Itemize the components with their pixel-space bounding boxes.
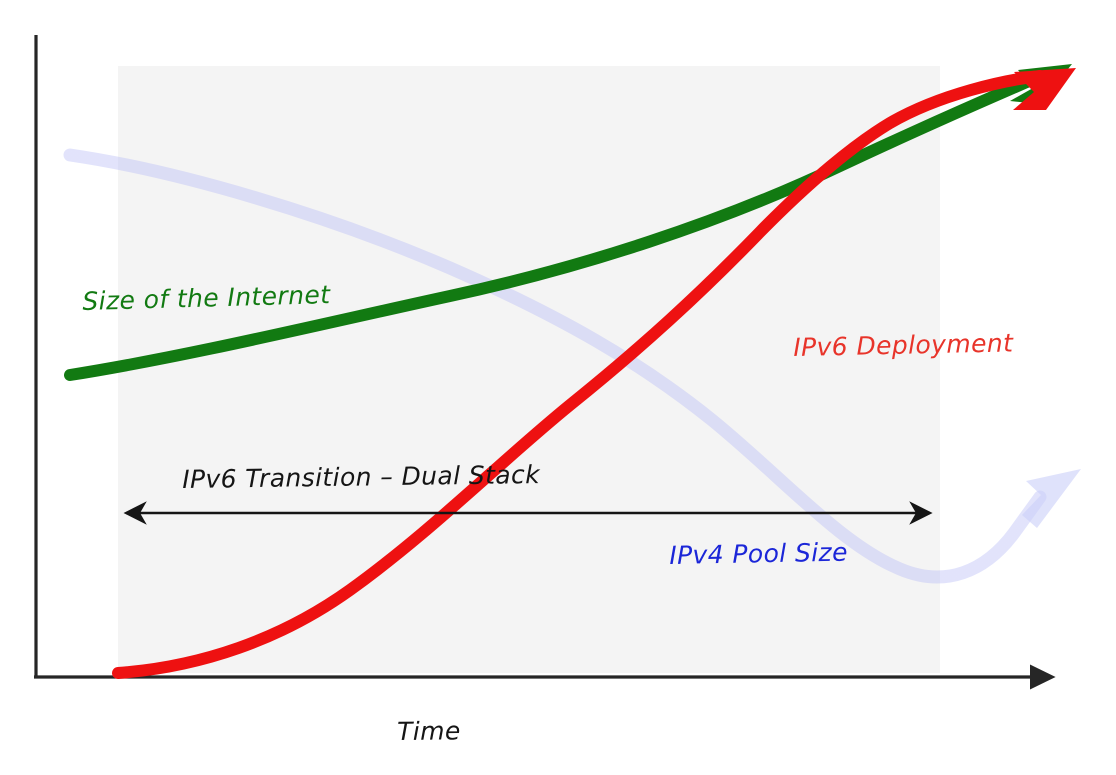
- diagram-canvas: Size of the Internet IPv6 Deployment IPv…: [0, 0, 1116, 775]
- dual-stack-shaded-band: [118, 66, 940, 673]
- annotation-label-dual-stack: IPv6 Transition – Dual Stack: [182, 460, 540, 494]
- ipv6-transition-diagram: [0, 0, 1116, 775]
- x-axis-label: Time: [397, 716, 461, 746]
- series-label-ipv4-pool-size: IPv4 Pool Size: [669, 538, 848, 570]
- series-label-ipv6-deployment: IPv6 Deployment: [793, 328, 1014, 362]
- series-ipv4-pool-size-arrowhead: [1022, 469, 1081, 528]
